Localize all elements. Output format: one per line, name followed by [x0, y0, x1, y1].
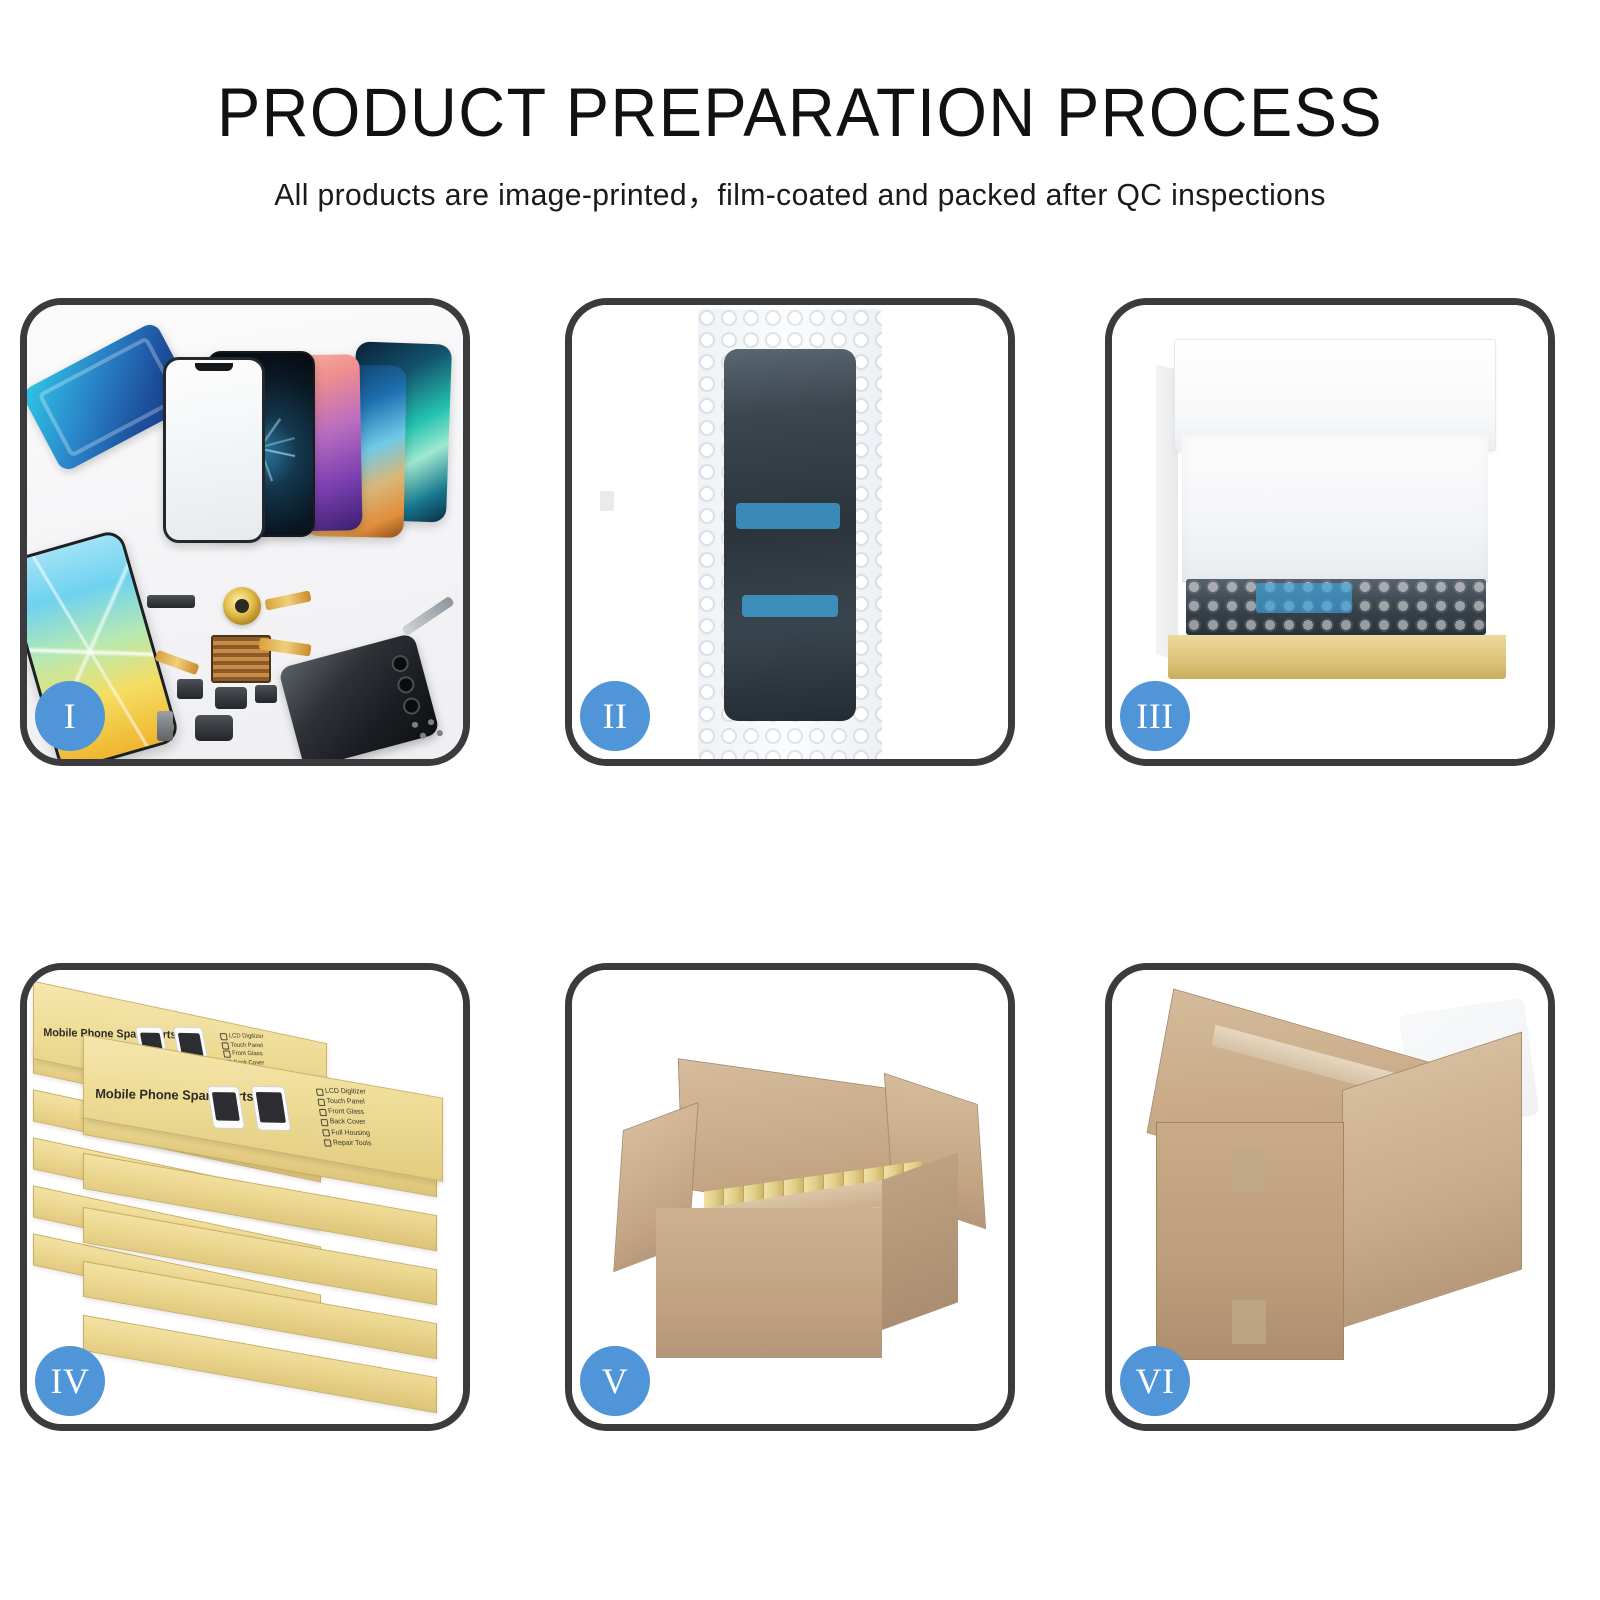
carton-side-panel: [882, 1152, 958, 1330]
checkbox-icon: [316, 1088, 324, 1095]
camera-module-part: [195, 715, 233, 741]
camera-lens-icon-2: [395, 674, 416, 695]
step-panel-2[interactable]: II: [565, 298, 1015, 766]
small-component-part-3: [255, 685, 277, 703]
retail-box-product-photo-4: [251, 1086, 291, 1131]
carton-sealing-tape-upper: [1232, 1148, 1266, 1192]
step-panel-5[interactable]: V: [565, 963, 1015, 1431]
screen-sticker-label: [600, 491, 614, 511]
screen-blue-highlight-1: [736, 503, 840, 529]
step-badge-4: IV: [35, 1346, 105, 1416]
wireless-charging-coil-part: [223, 587, 261, 625]
carton-front-panel: [656, 1208, 882, 1358]
retail-box-checklist-front: LCD Digitizer Touch Panel Front Glass Ba…: [316, 1087, 375, 1150]
screen-blue-highlight-2: [742, 595, 838, 617]
checklist-label: Touch Panel: [326, 1097, 366, 1108]
step-badge-2: II: [580, 681, 650, 751]
step-badge-5: V: [580, 1346, 650, 1416]
screen-blue-highlight: [1256, 583, 1352, 613]
earpiece-speaker-part: [147, 595, 195, 608]
camera-lens-icon-1: [390, 653, 411, 674]
step-panel-4[interactable]: Mobile Phone Spare Parts LCD Digitizer T…: [20, 963, 470, 1431]
checkbox-icon: [319, 1109, 327, 1116]
checklist-label: Full Housing: [331, 1128, 371, 1139]
checklist-row: Repair Tools: [323, 1138, 374, 1149]
step-badge-1: I: [35, 681, 105, 751]
step-badge-6: VI: [1120, 1346, 1190, 1416]
retail-box-front-panel: [1168, 635, 1506, 679]
checkbox-icon: [220, 1033, 228, 1040]
checkbox-icon: [322, 1129, 330, 1136]
carton-sealing-tape-lower: [1232, 1300, 1266, 1344]
product-photo-glass-3: [212, 1092, 240, 1121]
page-header: PRODUCT PREPARATION PROCESS All products…: [0, 0, 1600, 214]
phone-front-glass-panel: [163, 357, 265, 543]
retail-box-foam-lining: [1182, 435, 1488, 583]
phone-notch-icon: [195, 363, 233, 371]
sim-tray-part: [157, 711, 173, 741]
checklist-label: Back Cover: [329, 1118, 366, 1129]
checkbox-icon: [324, 1140, 332, 1147]
page-subtitle: All products are image-printed，film-coat…: [24, 147, 1576, 214]
step-panel-3[interactable]: III: [1105, 298, 1555, 766]
process-step-grid: I II: [20, 298, 1565, 1438]
product-photo-glass-4: [256, 1092, 286, 1123]
step-panel-1[interactable]: I: [20, 298, 470, 766]
checklist-label: Front Glass: [328, 1107, 365, 1118]
checkbox-icon: [317, 1098, 325, 1105]
small-component-part-1: [177, 679, 203, 699]
retail-box-product-photo-3: [207, 1086, 245, 1129]
camera-lens-icon-3: [401, 696, 422, 717]
checklist-label: Repair Tools: [332, 1138, 372, 1149]
lcd-screen-inside-bag: [724, 349, 856, 721]
screws-part: [407, 717, 447, 743]
checkbox-icon: [321, 1119, 329, 1126]
checklist-label: LCD Digitizer: [324, 1087, 366, 1098]
checkbox-icon: [221, 1042, 229, 1049]
checkbox-icon: [223, 1051, 231, 1058]
step-badge-3: III: [1120, 681, 1190, 751]
small-component-part-2: [215, 687, 247, 709]
step-panel-6[interactable]: VI: [1105, 963, 1555, 1431]
page-title: PRODUCT PREPARATION PROCESS: [48, 0, 1552, 147]
